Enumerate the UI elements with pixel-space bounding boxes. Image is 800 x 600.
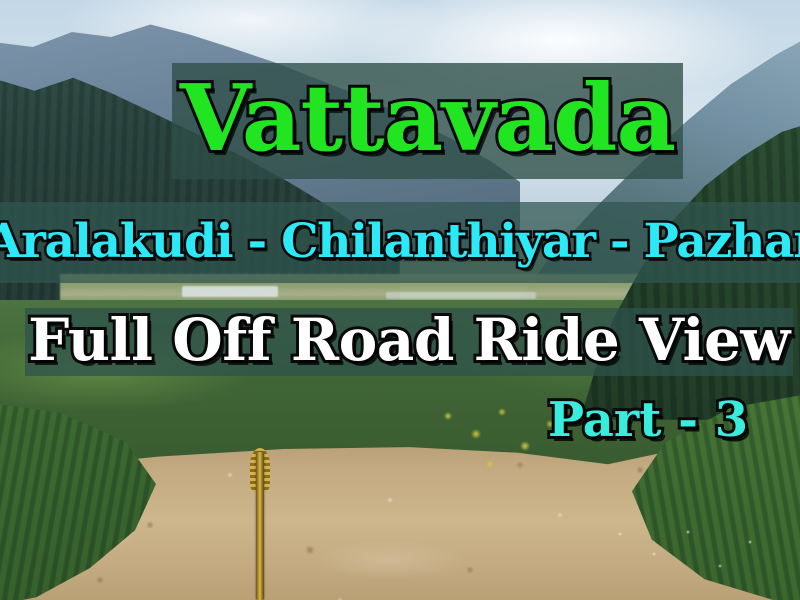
route-band: Swami Aralakudi - Chilanthiyar - Pazhamt…: [0, 202, 800, 283]
brass-pole: [256, 452, 264, 600]
white-wildflowers: [600, 520, 780, 590]
subtitle-band: Full Off Road Ride View: [25, 308, 793, 376]
route-text: Swami Aralakudi - Chilanthiyar - Pazhamt…: [0, 218, 800, 265]
subtitle-text: Full Off Road Ride View: [28, 311, 790, 369]
title-text: Vattavada: [180, 72, 675, 164]
title-band: Vattavada: [172, 63, 683, 179]
video-thumbnail: Vattavada Swami Aralakudi - Chilanthiyar…: [0, 0, 800, 600]
part-label: Part - 3: [548, 396, 748, 444]
